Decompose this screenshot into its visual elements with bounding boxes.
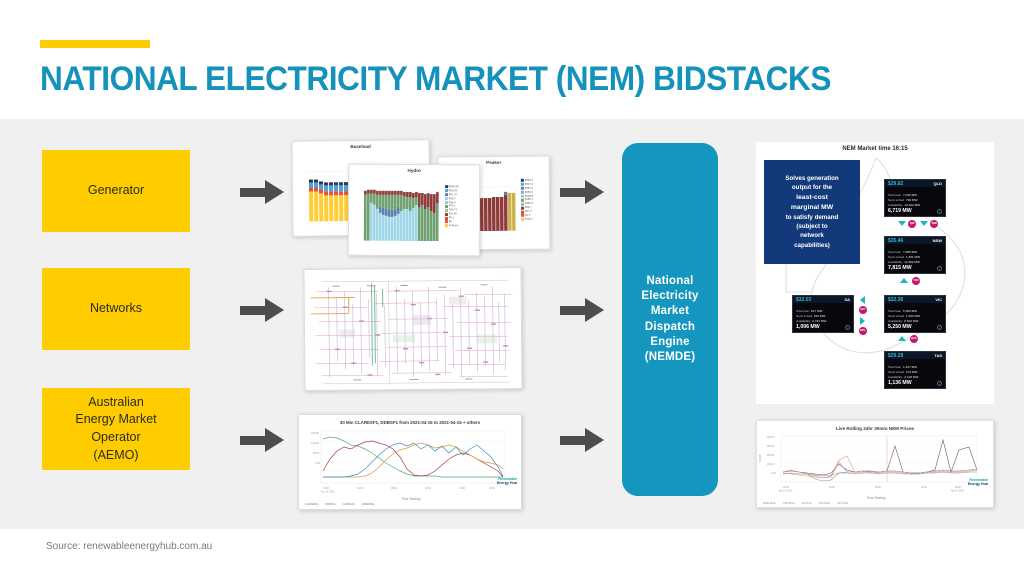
network-schematic-card[interactable] xyxy=(303,267,522,391)
aemo-legend: CLARESF1 DDBSF1 GANNSF1 PAREPW1 xyxy=(305,503,374,506)
arrow-bidstacks-to-nemde xyxy=(560,180,604,204)
tick: | xyxy=(339,223,340,225)
svg-text:Apr 15, 2021: Apr 15, 2021 xyxy=(321,491,335,494)
source-attribution: Source: renewableenergyhub.com.au xyxy=(46,541,212,552)
nsw-price: $35.46 xyxy=(888,238,903,244)
price-chart-plot: 400.00300.00 200.00100.00 0.00 $/MWh 18:… xyxy=(757,434,994,494)
arrow-head xyxy=(265,180,284,204)
legend-swatch xyxy=(445,189,448,192)
stat-value: 1,004 MW xyxy=(906,314,920,318)
svg-text:400.00: 400.00 xyxy=(767,436,775,439)
stat-label: Semi sched xyxy=(888,314,904,318)
stat-value: 1,301 MW xyxy=(906,255,920,259)
sa-region-code: SA xyxy=(844,297,850,302)
svg-text:300.00: 300.00 xyxy=(767,445,775,448)
svg-text:08:00: 08:00 xyxy=(391,487,398,490)
stat-label: Availability xyxy=(796,319,811,323)
stat-value: 2,128 MW xyxy=(904,375,918,379)
legend-item: $-954.4 xyxy=(445,224,458,228)
legend-swatch xyxy=(445,225,448,228)
vic-price: $32.36 xyxy=(888,297,903,303)
bidstack-chart-cluster: Baseload xyxy=(288,126,550,256)
stat-label: Total Gen xyxy=(888,365,901,369)
svg-text:$/MWh: $/MWh xyxy=(759,454,762,462)
legend-swatch xyxy=(445,221,448,224)
svg-text:100.00: 100.00 xyxy=(311,441,319,445)
arrow-head xyxy=(585,428,604,452)
interconnector-badge-hey[interactable]: HEY xyxy=(859,306,867,314)
actor-label-generator: Generator xyxy=(88,182,144,200)
price-chart-title: Live Rolling 24hr 30min NEM Prices xyxy=(757,421,993,431)
svg-text:04:00: 04:00 xyxy=(357,487,364,490)
stat-label: Availability xyxy=(888,260,903,264)
legend-label: $-99.1 xyxy=(525,218,532,222)
chart-title-hydro: Hydro xyxy=(349,165,479,174)
stat-value: 796 MW xyxy=(906,198,918,202)
arrow-timeseries-to-nemde xyxy=(560,428,604,452)
price-chart-legend: NSW Price QLD Price SA Price TAS Price V… xyxy=(763,502,848,505)
state-panel-vic[interactable]: $32.36 VIC Total Gen 5,366 MW Semi sched… xyxy=(884,295,946,333)
svg-text:18:00: 18:00 xyxy=(783,487,789,489)
legend-entry: VIC Price xyxy=(837,502,848,505)
interconnector-badge-bas[interactable]: BAS xyxy=(910,335,918,343)
explainer-line-1: Solves generation xyxy=(785,175,838,182)
tick: | xyxy=(328,223,329,225)
explainer-line-2: output for the xyxy=(792,184,832,191)
arrow-schematic-to-nemde xyxy=(560,298,604,322)
stat-value: 10,322 MW xyxy=(904,203,920,207)
legend-swatch xyxy=(521,206,524,209)
arrow-shaft xyxy=(240,306,267,315)
page-title: NATIONAL ELECTRICITY MARKET (NEM) BIDSTA… xyxy=(40,60,831,99)
state-panel-qld[interactable]: $29.62 QLD Total Gen 7,040 MW Semi sched… xyxy=(884,179,946,217)
diagram-canvas: Generator Networks Australian Energy Mar… xyxy=(0,119,1024,529)
svg-text:200.00: 200.00 xyxy=(767,454,775,457)
price-chart-xlabel: Time Starting xyxy=(757,496,994,500)
actor-box-aemo[interactable]: Australian Energy Market Operator (AEMO) xyxy=(42,388,190,470)
stat-label: Availability xyxy=(888,203,903,207)
svg-text:16:00: 16:00 xyxy=(459,487,466,490)
stat-label: Semi sched xyxy=(796,314,812,318)
nsw-demand: 7,815 MW xyxy=(888,265,912,271)
nemde-explainer-text: Solves generation output for the least-c… xyxy=(782,171,841,253)
qld-stats: Total Gen 7,040 MW Semi sched 796 MW Ava… xyxy=(888,193,920,207)
network-single-line-diagram xyxy=(309,272,520,388)
stat-label: Availability xyxy=(888,319,903,323)
explainer-line-4: (subject to xyxy=(796,223,827,230)
legend-label: $-954.4 xyxy=(449,224,458,228)
aemo-chart-plot: 150.00100.00 50.000.00 00:0004:00 08:001… xyxy=(299,429,522,493)
legend-entry: PAREPW1 xyxy=(362,503,375,506)
stat-label: Total Gen xyxy=(888,250,901,254)
legend-swatch xyxy=(521,195,524,198)
state-panel-nsw[interactable]: $35.46 NSW Total Gen 7,988 MW Semi sched… xyxy=(884,236,946,274)
arrow-shaft xyxy=(240,436,267,445)
arrow-shaft xyxy=(560,306,587,315)
vic-info-icon[interactable]: i xyxy=(937,325,942,330)
stat-label: Total Gen xyxy=(888,309,901,313)
stat-label: Total Gen xyxy=(888,193,901,197)
stat-label: Semi sched xyxy=(888,198,904,202)
legend-swatch xyxy=(445,193,448,196)
svg-text:100.00: 100.00 xyxy=(767,463,775,466)
qld-demand: 6,719 MW xyxy=(888,208,912,214)
svg-text:20:00: 20:00 xyxy=(489,487,496,490)
qld-region-code: QLD xyxy=(934,181,942,186)
stat-value: 8,622 MW xyxy=(904,319,918,323)
stat-value: 374 MW xyxy=(906,370,918,374)
vic-stats: Total Gen 5,366 MW Semi sched 1,004 MW A… xyxy=(888,309,920,323)
flow-arrow-vns-up xyxy=(900,278,908,283)
nsw-region-code: NSW xyxy=(933,238,942,243)
actor-box-generator[interactable]: Generator xyxy=(42,150,190,232)
sa-info-icon[interactable]: i xyxy=(845,325,850,330)
aemo-watermark: Renewable Energy Hub xyxy=(497,477,517,486)
actor-label-aemo: Australian Energy Market Operator (AEMO) xyxy=(75,394,156,465)
legend-swatch xyxy=(521,179,524,182)
legend-swatch xyxy=(521,218,524,221)
aemo-xlabel: Time Starting xyxy=(299,497,522,501)
legend-item: $-99.1 xyxy=(521,218,533,222)
arrow-networks-to-schematic xyxy=(240,298,284,322)
svg-text:18:00: 18:00 xyxy=(955,487,961,489)
watermark-line-2: Energy Hub xyxy=(497,481,517,485)
peaker-legend: $394.3 $327.4 $295.1 $283.2 $228.8 $188.… xyxy=(521,179,533,222)
legend-swatch xyxy=(521,214,524,217)
interconnector-badge-vns[interactable]: VNS xyxy=(912,277,920,285)
arrow-shaft xyxy=(240,188,267,197)
svg-text:50.00: 50.00 xyxy=(313,451,320,455)
arrow-head xyxy=(265,298,284,322)
legend-swatch xyxy=(445,209,448,212)
sa-demand: 1,006 MW xyxy=(796,324,820,330)
qld-price: $29.62 xyxy=(888,181,903,187)
svg-text:0.00: 0.00 xyxy=(315,461,321,465)
legend-entry: CLARESF1 xyxy=(305,503,318,506)
explainer-line-3: to satisfy demand xyxy=(786,214,839,221)
sa-stats: Total Gen 917 MW Semi sched 632 MW Avail… xyxy=(796,309,826,323)
tas-stats: Total Gen 1,437 MW Semi sched 374 MW Ava… xyxy=(888,365,918,379)
flow-arrow-tnm-down xyxy=(920,221,928,226)
explainer-emphasis: least-cost marginal MW xyxy=(791,194,833,211)
vic-region-code: VIC xyxy=(935,297,942,302)
stat-value: 917 MW xyxy=(811,309,823,313)
arrow-shaft xyxy=(560,436,587,445)
stat-label: Availability xyxy=(888,375,903,379)
actor-box-networks[interactable]: Networks xyxy=(42,268,190,350)
stat-value: 632 MW xyxy=(814,314,826,318)
legend-entry: SA Price xyxy=(802,502,812,505)
tick: | xyxy=(318,223,319,225)
svg-text:Apr 14, 2021: Apr 14, 2021 xyxy=(779,489,793,492)
tas-region-code: TAS xyxy=(934,353,942,358)
page-header: NATIONAL ELECTRICITY MARKET (NEM) BIDSTA… xyxy=(0,0,1024,119)
actor-label-networks: Networks xyxy=(90,300,142,318)
legend-swatch xyxy=(521,191,524,194)
interconnector-badge-qni[interactable]: QNI xyxy=(908,220,916,228)
svg-text:Apr 15, 2021: Apr 15, 2021 xyxy=(951,489,965,492)
arrow-aemo-to-timeseries xyxy=(240,428,284,452)
qld-info-icon[interactable]: i xyxy=(937,209,942,214)
explainer-line-5: network xyxy=(800,232,824,239)
stat-value: 11,062 MW xyxy=(904,260,920,264)
nsw-stats: Total Gen 7,988 MW Semi sched 1,301 MW A… xyxy=(888,250,920,264)
vic-demand: 5,250 MW xyxy=(888,324,912,330)
svg-text:12:00: 12:00 xyxy=(425,487,432,490)
stat-value: 5,366 MW xyxy=(903,309,917,313)
aemo-chart-title: 30 Min CLARESF1, DDBSF1 from 2021-04-15 … xyxy=(299,415,521,425)
watermark-line-2: Energy Hub xyxy=(968,482,988,486)
arrow-generator-to-bidstacks xyxy=(240,180,284,204)
page-footer xyxy=(0,529,1024,576)
legend-swatch xyxy=(445,201,448,204)
nemde-engine-box[interactable]: National Electricity Market Dispatch Eng… xyxy=(622,143,718,496)
interconnector-badge-mpl[interactable]: MPL xyxy=(859,327,867,335)
svg-text:0.00: 0.00 xyxy=(771,472,776,475)
nemde-engine-label: National Electricity Market Dispatch Eng… xyxy=(641,274,698,365)
legend-entry: NSW Price xyxy=(763,502,776,505)
arrow-head xyxy=(585,298,604,322)
legend-entry: TAS Price xyxy=(819,502,830,505)
legend-swatch xyxy=(445,217,448,220)
bidstack-chart-hydro[interactable]: Hydro xyxy=(348,164,480,257)
svg-text:00:00: 00:00 xyxy=(829,487,835,489)
legend-swatch xyxy=(521,187,524,190)
legend-entry: DDBSF1 xyxy=(325,503,335,506)
legend-swatch xyxy=(521,199,524,202)
state-panel-sa[interactable]: $32.03 SA Total Gen 917 MW Semi sched 63… xyxy=(792,295,854,333)
stat-value: 2,791 MW xyxy=(812,319,826,323)
sa-price: $32.03 xyxy=(796,297,811,303)
legend-swatch xyxy=(521,210,524,213)
legend-entry: GANNSF1 xyxy=(343,503,355,506)
chart-title-baseload: Baseload xyxy=(293,140,429,149)
nemde-explainer-box: Solves generation output for the least-c… xyxy=(764,160,860,264)
legend-swatch xyxy=(445,186,448,189)
legend-swatch xyxy=(521,183,524,186)
plot-area-hydro xyxy=(363,183,441,241)
explainer-line-6: capabilities) xyxy=(794,242,830,249)
tas-info-icon[interactable]: i xyxy=(937,381,942,386)
aemo-timeseries-card[interactable]: 30 Min CLARESF1, DDBSF1 from 2021-04-15 … xyxy=(298,414,522,510)
flow-arrow-qni-down xyxy=(898,221,906,226)
stat-label: Semi sched xyxy=(888,255,904,259)
svg-text:06:00: 06:00 xyxy=(875,487,881,489)
flow-arrow-hey-left xyxy=(860,296,865,304)
price-chart-watermark: Renewable Energy Hub xyxy=(968,478,988,487)
arrow-head xyxy=(585,180,604,204)
flow-arrow-bas-up xyxy=(898,336,906,341)
stat-value: 7,040 MW xyxy=(903,193,917,197)
tas-demand: 1,136 MW xyxy=(888,380,912,386)
stat-value: 1,437 MW xyxy=(903,365,917,369)
legend-entry: QLD Price xyxy=(783,502,795,505)
legend-swatch xyxy=(445,205,448,208)
tick: | xyxy=(307,224,308,226)
stat-label: Semi sched xyxy=(888,370,904,374)
tas-price: $29.28 xyxy=(888,353,903,359)
svg-text:150.00: 150.00 xyxy=(311,431,319,435)
hydro-stacked-bars xyxy=(363,183,441,241)
nem-market-map-card[interactable]: NEM Market time 16:15 Solves generation … xyxy=(756,142,994,404)
svg-text:12:00: 12:00 xyxy=(921,487,927,489)
stat-label: Total Gen xyxy=(796,309,809,313)
nsw-info-icon[interactable]: i xyxy=(937,266,942,271)
state-panel-tas[interactable]: $29.28 TAS Total Gen 1,437 MW Semi sched… xyxy=(884,351,946,389)
legend-swatch xyxy=(445,197,448,200)
interconnector-badge-tnm[interactable]: TNM xyxy=(930,220,938,228)
legend-swatch xyxy=(521,203,524,206)
arrow-shaft xyxy=(560,188,587,197)
title-accent-bar xyxy=(40,40,150,48)
live-price-chart-card[interactable]: Live Rolling 24hr 30min NEM Prices 400.0… xyxy=(756,420,994,508)
stat-value: 7,988 MW xyxy=(903,250,917,254)
arrow-head xyxy=(265,428,284,452)
hydro-legend: $346.54 $52.59 $37.37 $28.7 $24.4 $20.1 … xyxy=(445,185,459,228)
flow-arrow-mpl-right xyxy=(860,317,865,325)
legend-swatch xyxy=(445,213,448,216)
